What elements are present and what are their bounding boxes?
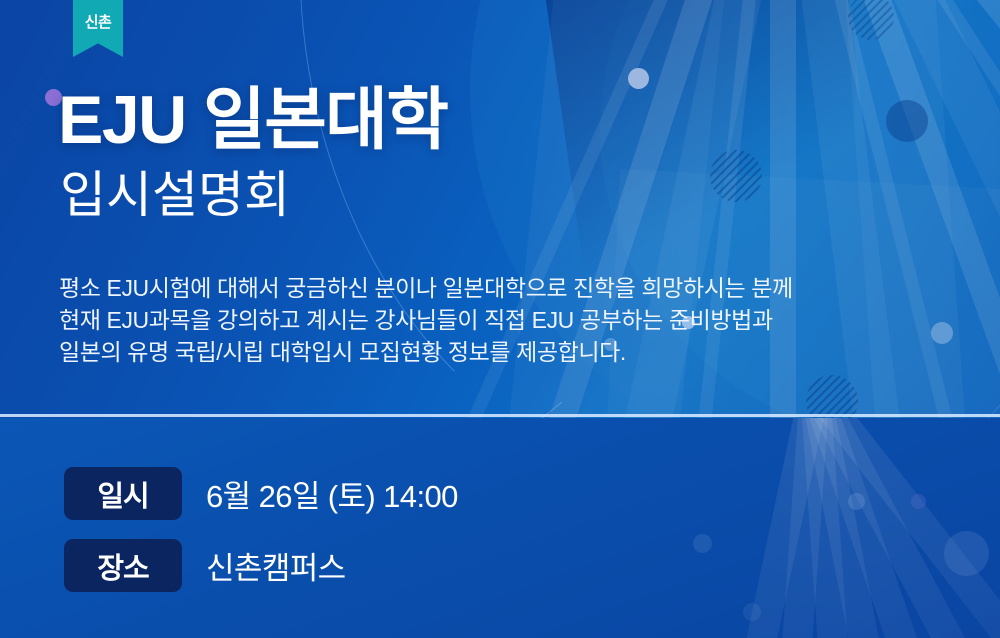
poster-description: 평소 EJU시험에 대해서 궁금하신 분이나 일본대학으로 진학을 희망하시는 … — [59, 272, 793, 368]
info-value-date: 6월 26일 (토) 14:00 — [206, 471, 458, 516]
event-poster: 신촌 EJU 일본대학 입시설명회 평소 EJU시험에 대해서 궁금하신 분이나… — [0, 0, 1000, 638]
info-label-location: 장소 — [64, 539, 182, 592]
poster-title: EJU 일본대학 — [58, 86, 447, 154]
description-line: 평소 EJU시험에 대해서 궁금하신 분이나 일본대학으로 진학을 희망하시는 … — [59, 272, 793, 304]
info-row-date: 일시 6월 26일 (토) 14:00 — [64, 467, 458, 520]
info-row-location: 장소 신촌캠퍼스 — [64, 539, 346, 592]
info-label-date: 일시 — [64, 467, 182, 520]
poster-content: EJU 일본대학 입시설명회 평소 EJU시험에 대해서 궁금하신 분이나 일본… — [0, 0, 1000, 638]
description-line: 일본의 유명 국립/시립 대학입시 모집현황 정보를 제공합니다. — [59, 336, 793, 368]
info-value-location: 신촌캠퍼스 — [206, 543, 346, 588]
description-line: 현재 EJU과목을 강의하고 계시는 강사님들이 직접 EJU 공부하는 준비방… — [59, 304, 793, 336]
poster-subtitle: 입시설명회 — [60, 170, 290, 220]
